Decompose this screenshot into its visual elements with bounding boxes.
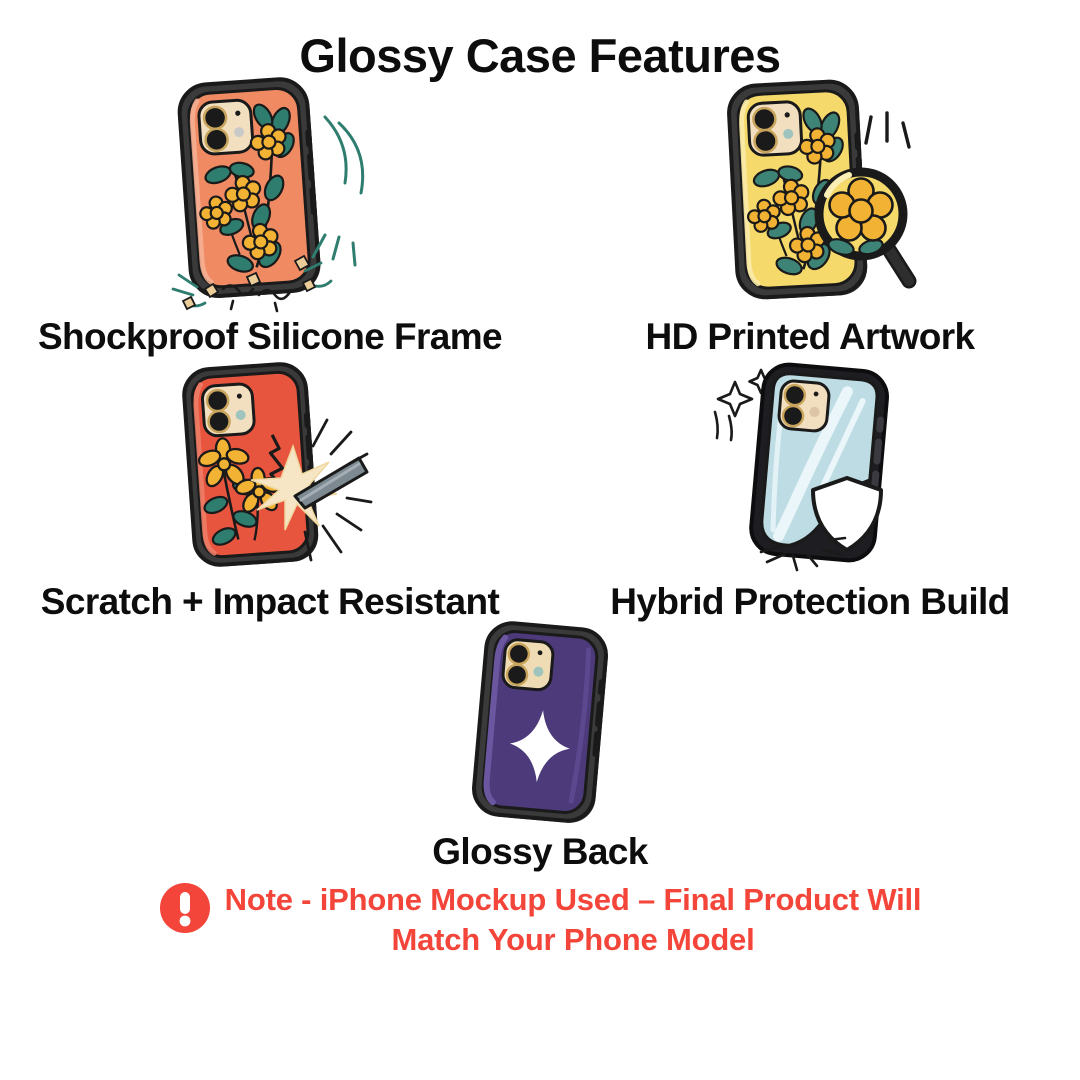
- phone-case-impact-icon: [155, 75, 385, 310]
- feature-label-hd-printed-artwork: HD Printed Artwork: [645, 310, 974, 357]
- exclamation-circle-icon: [159, 882, 211, 934]
- feature-item-glossy-back: Glossy Back: [0, 622, 1080, 872]
- feature-item-shockproof-silicone-frame: Shockproof Silicone Frame: [0, 85, 540, 357]
- feature-infographic-page: Glossy Case Features: [0, 0, 1080, 1080]
- note-text: Note - iPhone Mockup Used – Final Produc…: [225, 880, 922, 959]
- feature-art-container: [540, 357, 1080, 575]
- feature-art-container: [0, 75, 540, 310]
- phone-case-magnifier-icon: [695, 75, 925, 310]
- phone-case-shield-icon: [695, 360, 925, 575]
- feature-label-shockproof-silicone-frame: Shockproof Silicone Frame: [38, 310, 502, 357]
- page-title: Glossy Case Features: [299, 32, 780, 79]
- note-line-1: Note - iPhone Mockup Used – Final Produc…: [225, 880, 922, 920]
- feature-item-scratch-impact-resistant: Scratch + Impact Resistant: [0, 357, 540, 622]
- note-banner: Note - iPhone Mockup Used – Final Produc…: [40, 880, 1040, 959]
- phone-case-scratch-icon: [155, 360, 385, 575]
- feature-item-hd-printed-artwork: HD Printed Artwork: [540, 85, 1080, 357]
- feature-item-hybrid-protection-build: Hybrid Protection Build: [540, 357, 1080, 622]
- feature-label-hybrid-protection-build: Hybrid Protection Build: [610, 575, 1009, 622]
- note-line-2: Match Your Phone Model: [225, 920, 922, 960]
- feature-label-glossy-back: Glossy Back: [432, 825, 648, 872]
- feature-art-container: [0, 620, 1080, 825]
- feature-art-container: [0, 357, 540, 575]
- feature-grid: Shockproof Silicone Frame: [0, 85, 1080, 872]
- phone-case-glossy-icon: [450, 620, 630, 825]
- feature-art-container: [540, 75, 1080, 310]
- feature-label-scratch-impact-resistant: Scratch + Impact Resistant: [41, 575, 499, 622]
